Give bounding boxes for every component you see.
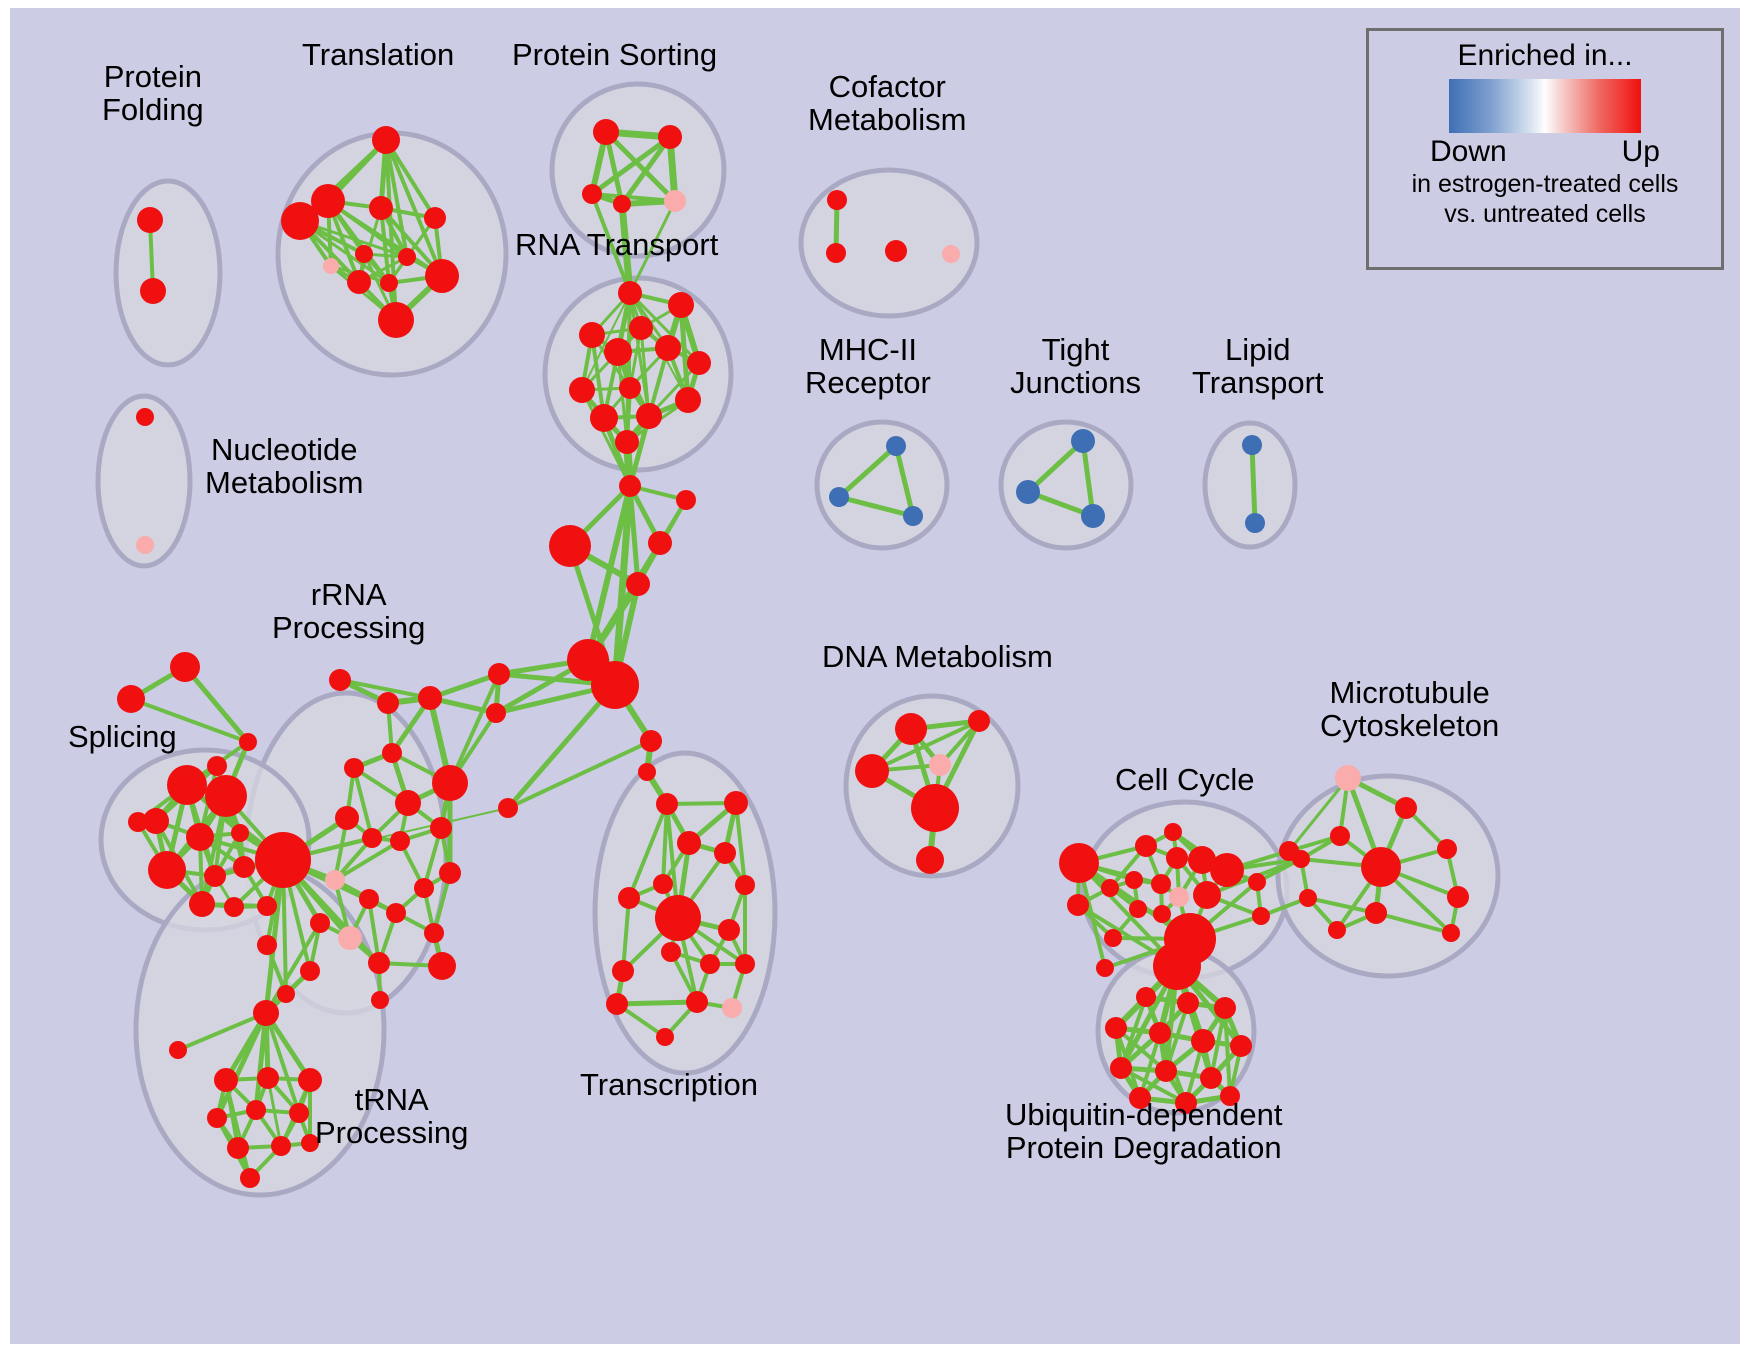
cluster-label-cell-cycle: Cell Cycle [1115,763,1255,796]
network-node[interactable] [735,875,755,895]
network-node[interactable] [224,897,244,917]
network-node[interactable] [855,754,889,788]
network-node[interactable] [612,960,634,982]
network-node[interactable] [1442,924,1460,942]
network-node[interactable] [498,798,518,818]
network-node[interactable] [335,806,359,830]
network-node[interactable] [1101,879,1119,897]
network-node[interactable] [656,793,678,815]
network-node[interactable] [329,669,351,691]
network-edge [1252,445,1255,523]
cluster-label-lipid-transport: Lipid Transport [1192,333,1324,400]
network-node[interactable] [488,663,510,685]
network-node[interactable] [676,490,696,510]
network-node[interactable] [1125,871,1143,889]
network-node[interactable] [170,652,200,682]
cluster-label-trna-processing: tRNA Processing [315,1083,468,1150]
cluster-label-transcription: Transcription [580,1068,758,1101]
network-node[interactable] [1299,889,1317,907]
legend-panel: Enriched in... Down Up in estrogen-treat… [1366,28,1724,270]
legend-endpoint-labels: Down Up [1430,135,1660,169]
network-node[interactable] [677,831,701,855]
network-node[interactable] [430,817,452,839]
cluster-label-rna-transport: RNA Transport [515,228,718,261]
network-node[interactable] [380,274,398,292]
network-node[interactable] [386,903,406,923]
network-node[interactable] [664,190,686,212]
network-node[interactable] [629,316,653,340]
network-node[interactable] [277,985,295,1003]
network-node[interactable] [1135,835,1157,857]
legend-high-label: Up [1622,135,1660,169]
network-node[interactable] [239,733,257,751]
network-node[interactable] [1193,881,1221,909]
legend-low-label: Down [1430,135,1507,169]
network-node[interactable] [661,942,681,962]
network-node[interactable] [1248,873,1266,891]
network-node[interactable] [271,1136,291,1156]
network-node[interactable] [240,1168,260,1188]
network-node[interactable] [826,243,846,263]
network-node[interactable] [310,913,330,933]
network-node[interactable] [582,184,602,204]
network-node[interactable] [255,832,311,888]
network-node[interactable] [714,842,736,864]
network-node[interactable] [246,1100,266,1120]
network-node[interactable] [1210,853,1244,887]
network-edge [617,1002,697,1004]
network-node[interactable] [439,862,461,884]
network-node[interactable] [1361,847,1401,887]
cluster-hull-protein-folding [116,181,220,365]
network-node[interactable] [347,270,371,294]
network-node[interactable] [1437,839,1457,859]
network-node[interactable] [675,387,701,413]
cluster-label-protein-folding: Protein Folding [102,60,204,127]
network-node[interactable] [686,991,708,1013]
network-node[interactable] [653,874,673,894]
network-node[interactable] [432,765,468,801]
network-node[interactable] [658,125,682,149]
network-node[interactable] [722,998,742,1018]
network-node[interactable] [1153,942,1201,990]
network-node[interactable] [428,952,456,980]
network-node[interactable] [1245,513,1265,533]
network-node[interactable] [687,351,711,375]
network-node[interactable] [903,506,923,526]
cluster-label-ubiquitin-degradation: Ubiquitin-dependent Protein Degradation [1005,1098,1283,1165]
network-node[interactable] [569,377,595,403]
network-node[interactable] [829,487,849,507]
network-node[interactable] [323,258,339,274]
network-node[interactable] [655,895,701,941]
network-node[interactable] [655,335,681,361]
network-node[interactable] [1169,887,1189,907]
network-node[interactable] [1067,894,1089,916]
network-node[interactable] [1166,847,1188,869]
cluster-label-dna-metabolism: DNA Metabolism [822,640,1053,673]
network-node[interactable] [1230,1035,1252,1057]
network-node[interactable] [136,536,154,554]
network-node[interactable] [618,887,640,909]
network-node[interactable] [189,891,215,917]
network-node[interactable] [414,878,434,898]
network-node[interactable] [1335,765,1361,791]
network-node[interactable] [593,119,619,145]
network-node[interactable] [281,202,319,240]
network-node[interactable] [895,713,927,745]
network-node[interactable] [186,823,214,851]
network-node[interactable] [398,248,416,266]
network-node[interactable] [885,240,907,262]
network-node[interactable] [169,1041,187,1059]
network-canvas: Protein FoldingTranslationProtein Sortin… [10,8,1740,1344]
network-node[interactable] [1328,921,1346,939]
network-node[interactable] [1365,902,1387,924]
network-node[interactable] [590,404,618,432]
network-node[interactable] [724,791,748,815]
network-node[interactable] [606,993,628,1015]
network-node[interactable] [1129,900,1147,918]
cluster-label-mhc-ii-receptor: MHC-II Receptor [805,333,931,400]
network-node[interactable] [1071,429,1095,453]
network-node[interactable] [668,292,694,318]
network-node[interactable] [656,1028,674,1046]
network-node[interactable] [1081,504,1105,528]
network-node[interactable] [371,991,389,1009]
network-node[interactable] [1149,1022,1171,1044]
network-node[interactable] [1395,797,1417,819]
network-node[interactable] [167,765,207,805]
network-node[interactable] [1177,992,1199,1014]
network-node[interactable] [338,926,362,950]
cluster-label-tight-junctions: Tight Junctions [1010,333,1141,400]
network-node[interactable] [1151,874,1171,894]
cluster-label-microtubule-cytoskeleton: Microtubule Cytoskeleton [1320,676,1499,743]
network-node[interactable] [257,896,277,916]
network-node[interactable] [1153,905,1171,923]
network-node[interactable] [344,758,364,778]
legend-color-gradient-bar [1449,79,1641,133]
network-node[interactable] [916,846,944,874]
network-node[interactable] [227,1137,249,1159]
cluster-label-splicing: Splicing [68,720,177,753]
network-node[interactable] [136,408,154,426]
network-node[interactable] [257,935,277,955]
network-node[interactable] [1164,823,1182,841]
network-node[interactable] [214,1068,238,1092]
network-node[interactable] [1292,850,1310,868]
network-node[interactable] [207,756,227,776]
network-node[interactable] [968,710,990,732]
network-node[interactable] [486,703,506,723]
network-node[interactable] [648,531,672,555]
network-node[interactable] [300,961,320,981]
network-node[interactable] [355,245,373,263]
network-node[interactable] [207,1108,227,1128]
network-node[interactable] [613,195,631,213]
network-node[interactable] [424,207,446,229]
network-node[interactable] [618,281,642,305]
network-node[interactable] [735,954,755,974]
network-node[interactable] [591,661,639,709]
network-node[interactable] [1059,843,1099,883]
network-node[interactable] [1200,1067,1222,1089]
network-node[interactable] [257,1067,279,1089]
network-node[interactable] [827,190,847,210]
legend-caption-line-2: vs. untreated cells [1444,200,1646,229]
network-node[interactable] [1155,1060,1177,1082]
network-edge [508,685,615,808]
network-node[interactable] [886,436,906,456]
network-node[interactable] [137,207,163,233]
network-node[interactable] [377,692,399,714]
network-node[interactable] [231,824,249,842]
network-node[interactable] [362,828,382,848]
network-node[interactable] [253,1000,279,1026]
network-node[interactable] [1016,480,1040,504]
network-node[interactable] [619,377,641,399]
network-node[interactable] [372,126,400,154]
network-node[interactable] [549,525,591,567]
network-node[interactable] [382,743,402,763]
network-node[interactable] [1242,435,1262,455]
legend-caption-line-1: in estrogen-treated cells [1412,170,1679,199]
network-node[interactable] [233,856,255,878]
legend-title: Enriched in... [1457,39,1632,73]
cluster-label-cofactor-metabolism: Cofactor Metabolism [808,70,967,137]
network-node[interactable] [205,775,247,817]
network-node[interactable] [140,278,166,304]
network-node[interactable] [148,851,186,889]
network-node[interactable] [1136,987,1156,1007]
network-node[interactable] [626,572,650,596]
network-node[interactable] [378,302,414,338]
network-node[interactable] [579,322,605,348]
network-node[interactable] [1252,907,1270,925]
network-node[interactable] [911,784,959,832]
cluster-label-protein-sorting: Protein Sorting [512,38,717,71]
network-node[interactable] [700,954,720,974]
network-node[interactable] [942,245,960,263]
network-node[interactable] [418,686,442,710]
network-node[interactable] [128,812,148,832]
network-node[interactable] [289,1103,309,1123]
network-node[interactable] [204,865,226,887]
network-node[interactable] [425,259,459,293]
network-node[interactable] [369,196,393,220]
network-node[interactable] [1330,826,1350,846]
network-node[interactable] [1214,997,1236,1019]
network-node[interactable] [117,685,145,713]
network-node[interactable] [619,475,641,497]
network-node[interactable] [1105,1017,1127,1039]
network-node[interactable] [1110,1057,1132,1079]
network-node[interactable] [395,790,421,816]
network-node[interactable] [359,889,379,909]
cluster-label-nucleotide-metabolism: Nucleotide Metabolism [205,433,364,500]
network-node[interactable] [929,754,951,776]
network-node[interactable] [1447,886,1469,908]
network-node[interactable] [424,923,444,943]
cluster-hull-mhc-ii-receptor [817,422,947,548]
network-node[interactable] [638,763,656,781]
network-node[interactable] [368,952,390,974]
network-node[interactable] [1104,929,1122,947]
network-node[interactable] [325,870,345,890]
network-node[interactable] [640,730,662,752]
network-node[interactable] [390,831,410,851]
cluster-label-rrna-processing: rRNA Processing [272,578,425,645]
network-node[interactable] [636,403,662,429]
network-node[interactable] [1191,1029,1215,1053]
network-node[interactable] [604,338,632,366]
network-node[interactable] [718,919,740,941]
network-node[interactable] [1096,959,1114,977]
network-node[interactable] [615,430,639,454]
cluster-label-translation: Translation [302,38,454,71]
